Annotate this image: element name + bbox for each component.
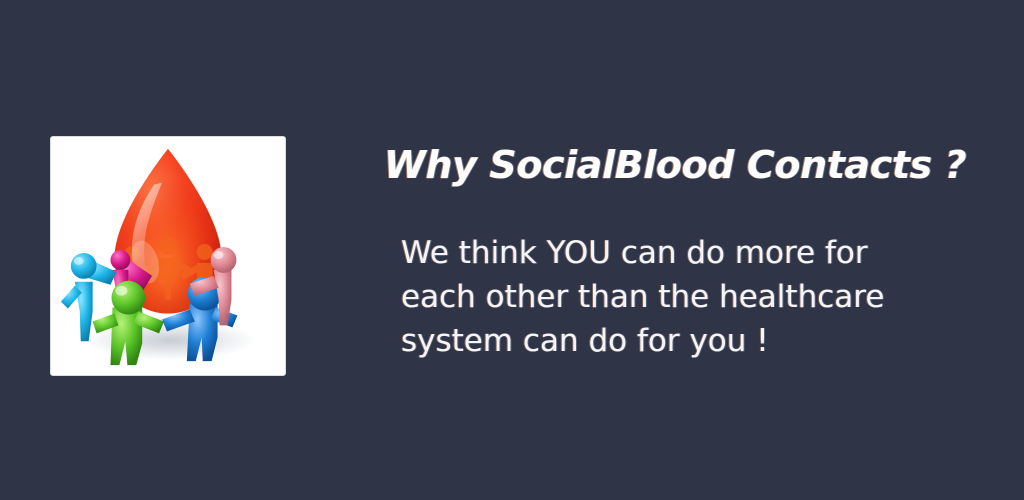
- body-line: system can do for you !: [401, 319, 961, 363]
- body-line: We think YOU can do more for: [401, 231, 961, 275]
- headline: Why SocialBlood Contacts ?: [384, 143, 984, 187]
- blood-drop-illustration: [51, 137, 285, 375]
- slide-canvas: Why SocialBlood Contacts ? We think YOU …: [0, 0, 1024, 500]
- illustration-card: [50, 136, 286, 376]
- body-copy: We think YOU can do more for each other …: [401, 231, 961, 363]
- body-line: each other than the healthcare: [401, 275, 961, 319]
